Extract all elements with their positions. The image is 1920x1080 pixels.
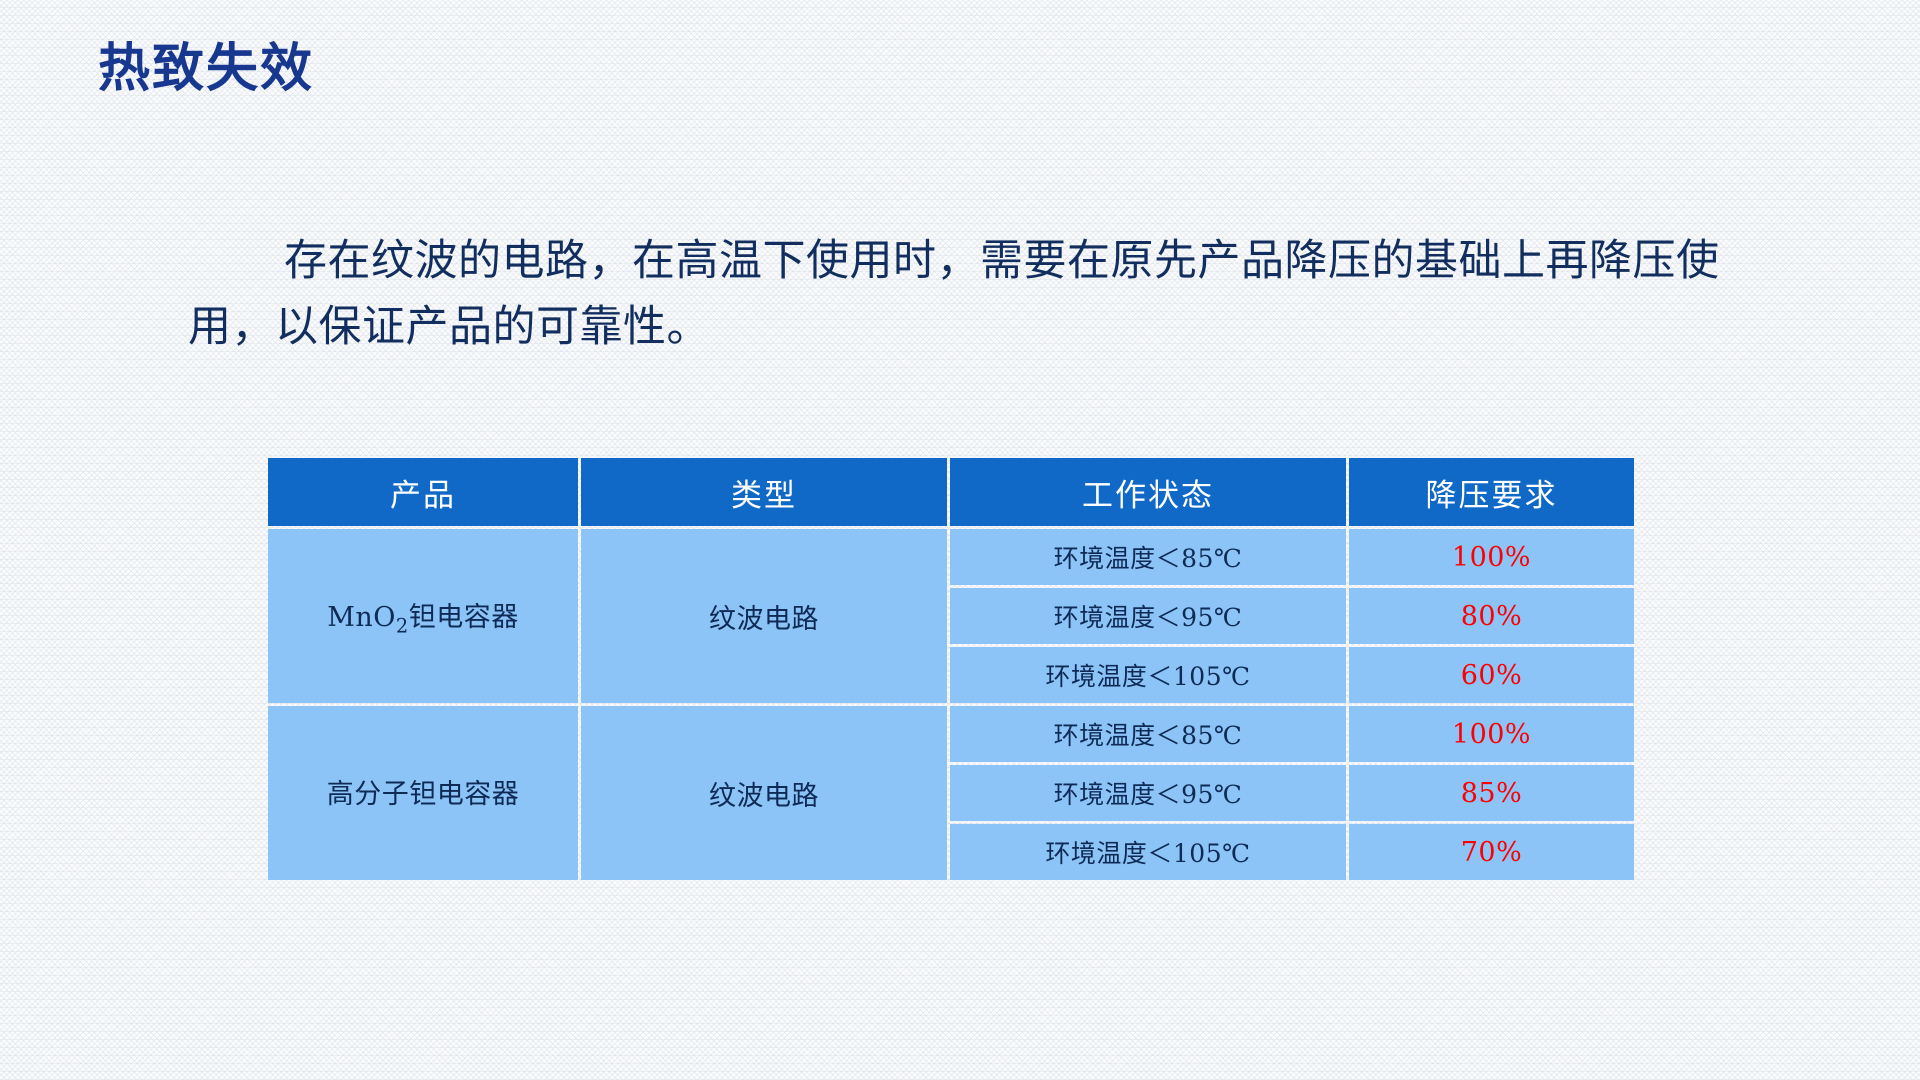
product-name-prefix: 高分子钽电容器	[327, 779, 520, 810]
condition-cell: 环境温度＜95℃	[950, 588, 1346, 644]
condition-cell: 环境温度＜105℃	[950, 647, 1346, 703]
slide-canvas: 热致失效 存在纹波的电路，在高温下使用时，需要在原先产品降压的基础上再降压使用，…	[0, 0, 1920, 1080]
condition-cell: 环境温度＜85℃	[950, 529, 1346, 585]
derating-cell: 100%	[1349, 706, 1634, 762]
table-row: 高分子钽电容器 纹波电路 环境温度＜85℃ 100%	[268, 706, 1634, 762]
type-cell-group-2: 纹波电路	[581, 706, 947, 880]
type-cell-group-1: 纹波电路	[581, 529, 947, 703]
product-name-suffix: 钽电容器	[409, 602, 519, 633]
body-paragraph: 存在纹波的电路，在高温下使用时，需要在原先产品降压的基础上再降压使用，以保证产品…	[188, 228, 1748, 360]
derating-cell: 80%	[1349, 588, 1634, 644]
column-header-derating: 降压要求	[1349, 458, 1634, 526]
column-header-product: 产品	[268, 458, 578, 526]
derating-cell: 100%	[1349, 529, 1634, 585]
condition-cell: 环境温度＜85℃	[950, 706, 1346, 762]
table-header-row: 产品 类型 工作状态 降压要求	[268, 458, 1634, 526]
derating-requirements-table: 产品 类型 工作状态 降压要求 MnO2钽电容器 纹波电路 环境温度＜85℃ 1…	[265, 455, 1637, 883]
product-cell-group-1: MnO2钽电容器	[268, 529, 578, 703]
product-cell-group-2: 高分子钽电容器	[268, 706, 578, 880]
product-name-subscript: 2	[396, 614, 409, 637]
table-row: MnO2钽电容器 纹波电路 环境温度＜85℃ 100%	[268, 529, 1634, 585]
derating-cell: 60%	[1349, 647, 1634, 703]
condition-cell: 环境温度＜105℃	[950, 824, 1346, 880]
condition-cell: 环境温度＜95℃	[950, 765, 1346, 821]
derating-cell: 70%	[1349, 824, 1634, 880]
page-title: 热致失效	[98, 26, 314, 101]
column-header-condition: 工作状态	[950, 458, 1346, 526]
product-name-prefix: MnO	[327, 602, 396, 633]
column-header-type: 类型	[581, 458, 947, 526]
derating-cell: 85%	[1349, 765, 1634, 821]
